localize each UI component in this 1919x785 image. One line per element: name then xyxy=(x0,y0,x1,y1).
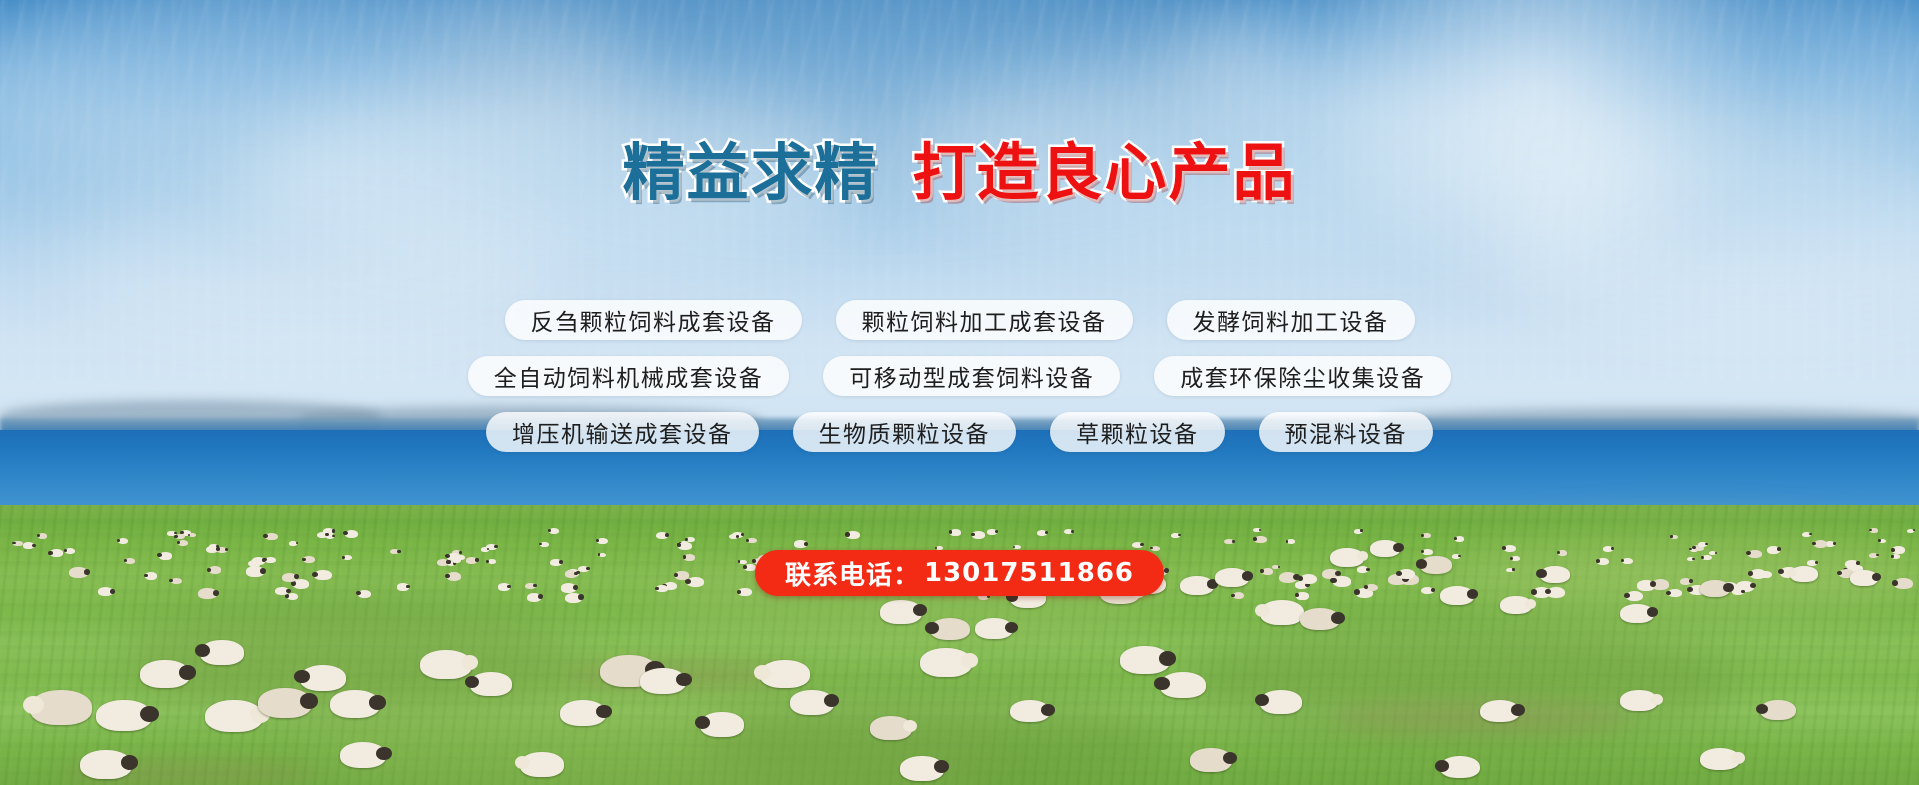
product-pill-row-2: 全自动饲料机械成套设备 可移动型成套饲料设备 成套环保除尘收集设备 xyxy=(0,356,1919,396)
product-pill[interactable]: 可移动型成套饲料设备 xyxy=(823,356,1120,396)
banner-content-overlay: 精益求精打造良心产品 反刍颗粒饲料成套设备 颗粒饲料加工成套设备 发酵饲料加工设… xyxy=(0,0,1919,785)
product-pill[interactable]: 预混料设备 xyxy=(1259,412,1434,452)
product-pill[interactable]: 生物质颗粒设备 xyxy=(793,412,1017,452)
contact-phone-badge[interactable]: 联系电话：13017511866 xyxy=(755,550,1164,596)
product-pill[interactable]: 成套环保除尘收集设备 xyxy=(1154,356,1451,396)
product-pill-groups: 反刍颗粒饲料成套设备 颗粒饲料加工成套设备 发酵饲料加工设备 全自动饲料机械成套… xyxy=(0,300,1919,468)
contact-phone-label: 联系电话： xyxy=(785,555,920,592)
product-pill[interactable]: 全自动饲料机械成套设备 xyxy=(468,356,790,396)
product-pill[interactable]: 发酵饲料加工设备 xyxy=(1167,300,1415,340)
hero-banner: 精益求精打造良心产品 反刍颗粒饲料成套设备 颗粒饲料加工成套设备 发酵饲料加工设… xyxy=(0,0,1919,785)
headline-part-two: 打造良心产品 xyxy=(913,142,1297,204)
product-pill-row-3: 增压机输送成套设备 生物质颗粒设备 草颗粒设备 预混料设备 xyxy=(0,412,1919,452)
product-pill[interactable]: 草颗粒设备 xyxy=(1050,412,1225,452)
contact-phone-wrapper: 联系电话：13017511866 xyxy=(0,550,1919,596)
product-pill-row-1: 反刍颗粒饲料成套设备 颗粒饲料加工成套设备 发酵饲料加工设备 xyxy=(0,300,1919,340)
contact-phone-number: 13017511866 xyxy=(924,558,1134,588)
product-pill[interactable]: 颗粒饲料加工成套设备 xyxy=(836,300,1133,340)
product-pill[interactable]: 增压机输送成套设备 xyxy=(486,412,759,452)
headline-part-one: 精益求精 xyxy=(622,142,878,204)
headline: 精益求精打造良心产品 xyxy=(0,138,1919,204)
product-pill[interactable]: 反刍颗粒饲料成套设备 xyxy=(505,300,802,340)
